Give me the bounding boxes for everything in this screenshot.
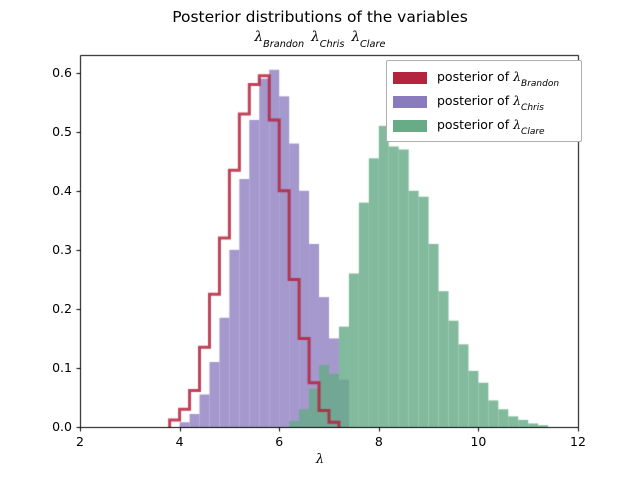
x-tick-label: 6 [259,434,299,449]
y-tick-label: 0.3 [28,242,72,257]
legend-swatch-icon [393,72,427,84]
x-tick-label: 10 [458,434,498,449]
x-tick-label: 4 [160,434,200,449]
y-tick-label: 0.0 [28,419,72,434]
x-tick-label: 12 [558,434,598,449]
x-tick-label: 2 [60,434,100,449]
legend-swatch-icon [393,96,427,108]
matplotlib-figure: Posterior distributions of the variables… [0,0,640,480]
y-tick-label: 0.4 [28,183,72,198]
chart-subtitle: λBrandon λChris λClare [0,29,640,48]
y-tick-label: 0.1 [28,360,72,375]
y-tick-label: 0.5 [28,124,72,139]
y-tick-label: 0.2 [28,301,72,316]
legend-item-label: posterior of λBrandon [437,69,559,88]
legend-item-label: posterior of λChris [437,93,544,112]
legend-item-chris[interactable]: posterior of λChris [393,90,575,114]
legend-swatch-icon [393,120,427,132]
page-title: Posterior distributions of the variables [0,8,640,26]
x-tick-label: 8 [359,434,399,449]
chart-legend[interactable]: posterior of λBrandon posterior of λChri… [386,60,582,142]
legend-item-label: posterior of λClare [437,117,545,136]
legend-item-clare[interactable]: posterior of λClare [393,114,575,138]
y-tick-label: 0.6 [28,65,72,80]
x-axis-label: λ [0,452,640,467]
legend-item-brandon[interactable]: posterior of λBrandon [393,66,575,90]
